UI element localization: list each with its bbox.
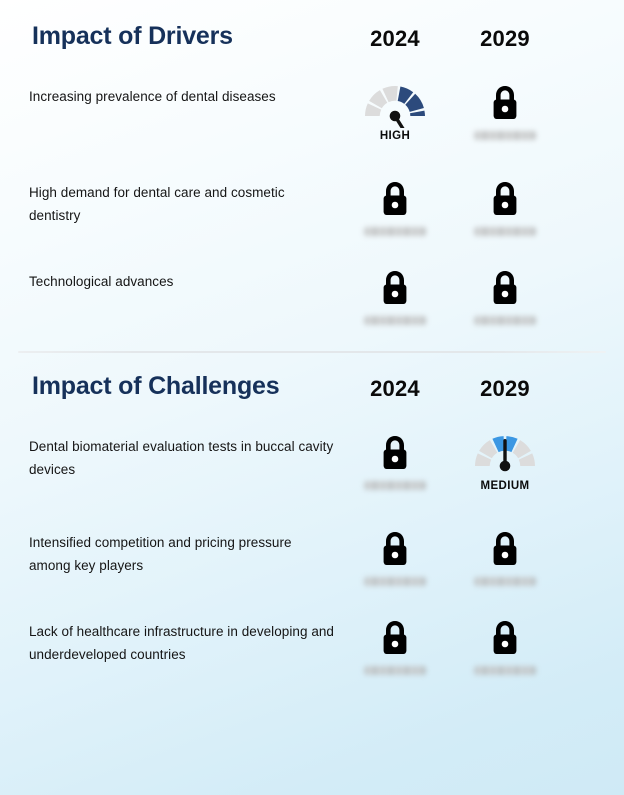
locked-content[interactable]: [340, 269, 450, 325]
impact-cell-2029[interactable]: MEDIUM: [450, 422, 560, 506]
section-drivers: Impact of Drivers 2024 2029 Increasing p…: [0, 0, 624, 64]
locked-content[interactable]: [340, 530, 450, 586]
impact-analysis-sheet: Impact of Drivers 2024 2029 Increasing p…: [0, 0, 624, 795]
lock-icon: [489, 269, 521, 307]
column-header-2024-drivers: 2024: [340, 26, 450, 52]
lock-icon: [489, 84, 521, 122]
column-header-2024-challenges: 2024: [340, 376, 450, 402]
lock-icon: [379, 180, 411, 218]
section-challenges: Impact of Challenges 2024 2029 Dental bi…: [0, 350, 624, 414]
obscured-value-bar: [364, 481, 426, 490]
impact-cell-2024[interactable]: [340, 257, 450, 341]
lock-icon: [379, 530, 411, 568]
table-row: Intensified competition and pricing pres…: [0, 510, 624, 606]
lock-icon: [379, 619, 411, 657]
page-title-drivers: Impact of Drivers: [32, 22, 233, 51]
impact-cell-2024[interactable]: HIGH: [340, 72, 450, 156]
table-row: Dental biomaterial evaluation tests in b…: [0, 414, 624, 510]
row-label: Technological advances: [29, 271, 334, 294]
obscured-value-bar: [474, 666, 536, 675]
locked-content[interactable]: [450, 619, 560, 675]
locked-content[interactable]: [340, 619, 450, 675]
row-label: Dental biomaterial evaluation tests in b…: [29, 436, 334, 481]
lock-icon: [379, 269, 411, 307]
table-row: Technological advances: [0, 249, 624, 345]
gauge-value-label: HIGH: [380, 130, 410, 142]
impact-cell-2024[interactable]: [340, 168, 450, 252]
obscured-value-bar: [364, 577, 426, 586]
section-header-drivers: Impact of Drivers 2024 2029: [0, 0, 624, 64]
page-title-challenges: Impact of Challenges: [32, 372, 279, 401]
locked-content[interactable]: [340, 180, 450, 236]
lock-icon: [489, 180, 521, 218]
obscured-value-bar: [474, 577, 536, 586]
impact-cell-2024[interactable]: [340, 518, 450, 602]
gauge-high: HIGH: [340, 76, 450, 142]
locked-content[interactable]: [450, 180, 560, 236]
row-label: High demand for dental care and cosmetic…: [29, 182, 334, 227]
impact-cell-2024[interactable]: [340, 422, 450, 506]
lock-icon: [489, 619, 521, 657]
locked-content[interactable]: [450, 84, 560, 140]
obscured-value-bar: [364, 227, 426, 236]
column-header-2029-challenges: 2029: [450, 376, 560, 402]
obscured-value-bar: [474, 131, 536, 140]
locked-content[interactable]: [450, 269, 560, 325]
table-row: High demand for dental care and cosmetic…: [0, 160, 624, 256]
locked-content[interactable]: [450, 530, 560, 586]
table-row: Lack of healthcare infrastructure in dev…: [0, 599, 624, 695]
obscured-value-bar: [364, 316, 426, 325]
impact-cell-2024[interactable]: [340, 607, 450, 691]
lock-icon: [489, 530, 521, 568]
impact-cell-2029[interactable]: [450, 257, 560, 341]
obscured-value-bar: [474, 316, 536, 325]
impact-cell-2029[interactable]: [450, 168, 560, 252]
gauge-icon: [363, 76, 427, 128]
obscured-value-bar: [474, 227, 536, 236]
row-label: Intensified competition and pricing pres…: [29, 532, 334, 577]
gauge-value-label: MEDIUM: [480, 480, 529, 492]
impact-cell-2029[interactable]: [450, 518, 560, 602]
impact-cell-2029[interactable]: [450, 607, 560, 691]
obscured-value-bar: [364, 666, 426, 675]
row-label: Lack of healthcare infrastructure in dev…: [29, 621, 334, 666]
table-row: Increasing prevalence of dental diseases: [0, 64, 624, 160]
column-header-2029-drivers: 2029: [450, 26, 560, 52]
locked-content[interactable]: [340, 434, 450, 490]
lock-icon: [379, 434, 411, 472]
gauge-medium: MEDIUM: [450, 426, 560, 492]
impact-cell-2029[interactable]: [450, 72, 560, 156]
section-header-challenges: Impact of Challenges 2024 2029: [0, 350, 624, 414]
row-label: Increasing prevalence of dental diseases: [29, 86, 334, 109]
gauge-icon: [473, 426, 537, 478]
